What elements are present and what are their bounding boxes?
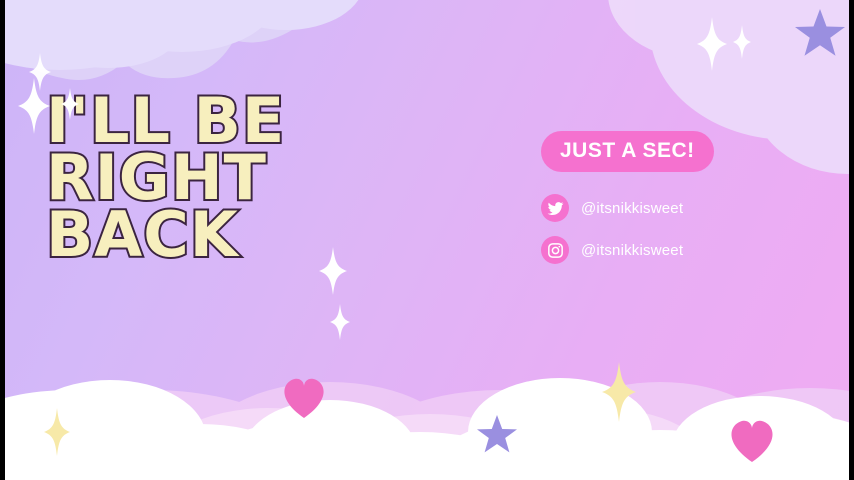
- page-title: I'LL BE RIGHT BACK: [46, 92, 285, 263]
- social-link-twitter[interactable]: @itsnikkisweet: [541, 194, 831, 222]
- stream-overlay-scene: I'LL BE RIGHT BACK JUS: [0, 0, 854, 480]
- instagram-camera-icon: [541, 236, 569, 264]
- status-badge: JUST A SEC!: [541, 131, 714, 172]
- instagram-handle: @itsnikkisweet: [581, 242, 683, 259]
- title-line-3: BACK: [46, 206, 285, 263]
- twitter-handle: @itsnikkisweet: [581, 200, 683, 217]
- info-panel: JUST A SEC! @itsnikkisweet: [541, 131, 831, 278]
- letterbox-bar-left: [0, 0, 5, 480]
- letterbox-bar-right: [849, 0, 854, 480]
- social-link-instagram[interactable]: @itsnikkisweet: [541, 236, 831, 264]
- social-links-list: @itsnikkisweet @itsnikkisweet: [541, 194, 831, 264]
- twitter-bird-icon: [541, 194, 569, 222]
